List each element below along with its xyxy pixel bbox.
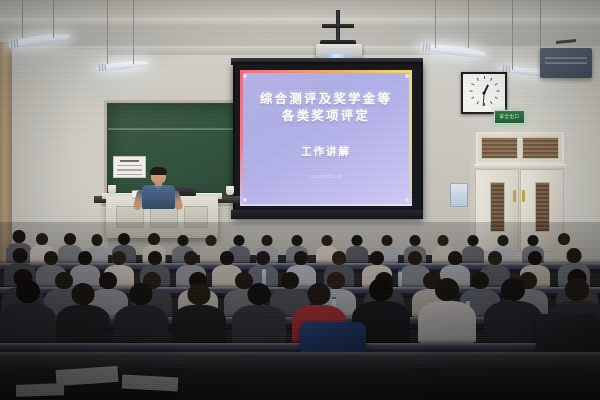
audience-member-head	[184, 251, 198, 265]
presenter-hair	[150, 167, 167, 175]
lamp-end-cap	[9, 39, 19, 49]
audience-member-head	[448, 251, 462, 265]
audience-member-head	[292, 235, 303, 246]
audience-member-head	[248, 283, 271, 305]
door-handle[interactable]	[513, 190, 516, 202]
audience-member-head	[382, 235, 393, 246]
audience-member-head	[567, 248, 582, 263]
slide-border-top	[240, 70, 412, 73]
audience-member-head	[528, 235, 539, 246]
audience-member-torso	[0, 303, 56, 343]
slide-subtitle: 工作讲解	[240, 144, 412, 159]
audience-member-head	[13, 230, 26, 243]
audience-member-head	[148, 233, 160, 245]
audience-member-torso	[56, 305, 110, 343]
lecture-hall-photo: 综合测评及奖学金等 各类奖项评定 工作讲解 2016年9月22日 安全出口	[0, 0, 600, 400]
audience-member-head	[234, 235, 245, 246]
paper-sheet	[16, 383, 64, 397]
audience-member-head	[369, 278, 393, 301]
audience-member-head	[206, 235, 217, 246]
bottle-cap	[262, 267, 266, 269]
audience-member	[418, 278, 476, 343]
audience-seating	[0, 225, 600, 400]
audience-member-head	[64, 233, 76, 245]
slide-corner-dot	[405, 198, 409, 202]
audience-member-head	[501, 278, 525, 301]
audience-member-head	[565, 278, 589, 301]
transom-pane	[522, 137, 559, 159]
audience-member-head	[558, 233, 570, 245]
slide-corner-dot	[243, 198, 247, 202]
audience-member	[484, 278, 542, 343]
paper-sheet	[122, 375, 179, 392]
audience-member-head	[370, 251, 384, 265]
audience-member-torso	[114, 305, 168, 343]
wall-poster	[450, 183, 468, 207]
audience-member	[114, 283, 168, 343]
slide-title: 综合测评及奖学金等 各类奖项评定	[240, 91, 412, 125]
chalkboard-slide-track	[108, 128, 240, 130]
audience-member-head	[188, 283, 211, 305]
audience-member-head	[322, 235, 333, 246]
screen-bottom-rail	[231, 210, 423, 219]
ceiling-slab	[0, 0, 600, 19]
wall-clock	[461, 72, 507, 114]
audience-member	[232, 283, 286, 343]
emergency-exit-sign: 安全出口	[494, 110, 525, 124]
audience-member-head	[44, 251, 58, 265]
door-handle[interactable]	[522, 190, 525, 202]
audience-member-head	[130, 283, 153, 305]
audience-member-head	[220, 251, 234, 265]
lamp-suspension-wire	[107, 0, 108, 64]
clock-face	[463, 74, 505, 112]
slide-border-bottom	[240, 204, 412, 206]
lamp-end-cap	[421, 42, 431, 52]
lamp-end-cap	[97, 64, 107, 72]
audience-member-head	[410, 235, 421, 246]
audience-member	[0, 280, 56, 343]
audience-member-head	[408, 251, 422, 265]
audience-member-head	[332, 251, 346, 265]
cup	[226, 186, 234, 195]
audience-member-torso	[172, 305, 226, 343]
lamp-suspension-wire	[435, 0, 436, 48]
wall-mounted-unit	[540, 48, 592, 78]
audience-member-head	[16, 280, 40, 303]
audience-member-head	[308, 283, 331, 305]
lamp-suspension-wire	[22, 0, 23, 38]
audience-member-head	[148, 251, 162, 265]
audience-member-head	[256, 251, 270, 265]
audience-member-head	[294, 251, 308, 265]
audience-member-head	[528, 251, 542, 265]
lamp-suspension-wire	[468, 0, 469, 48]
audience-member-torso	[418, 301, 476, 343]
audience-member-head	[352, 235, 363, 246]
audience-member-head	[178, 235, 189, 246]
cup	[108, 185, 116, 194]
exit-sign-label: 安全出口	[500, 114, 520, 120]
audience-member-head	[488, 251, 502, 265]
audience-member-head	[36, 233, 48, 245]
lamp-suspension-wire	[133, 0, 134, 64]
lamp-suspension-wire	[53, 0, 54, 38]
lamp-suspension-wire	[512, 0, 513, 70]
audience-member-head	[435, 278, 459, 301]
transom-pane	[481, 137, 518, 159]
clock-center-pin	[483, 92, 486, 95]
audience-member-head	[498, 235, 509, 246]
audience-member-head	[468, 235, 479, 246]
audience-member-head	[118, 233, 130, 245]
slide-corner-dot	[243, 74, 247, 78]
audience-member-head	[92, 234, 103, 246]
audience-member-torso	[484, 301, 542, 343]
projected-slide: 综合测评及奖学金等 各类奖项评定 工作讲解 2016年9月22日	[240, 70, 412, 206]
slide-title-line-1: 综合测评及奖学金等	[240, 91, 412, 108]
audience-member-head	[438, 235, 449, 246]
presenter-speaker	[134, 168, 182, 208]
slide-title-line-2: 各类奖项评定	[240, 108, 412, 125]
audience-member	[56, 283, 110, 343]
door-transom-window	[476, 132, 564, 164]
ceiling-beam	[0, 18, 600, 27]
audience-member-torso	[232, 305, 286, 343]
audience-member-head	[13, 248, 28, 263]
audience-member	[172, 283, 226, 343]
audience-member-head	[78, 251, 92, 265]
slide-corner-dot	[405, 74, 409, 78]
audience-member-head	[112, 251, 126, 265]
projector-mount-crossbar	[322, 24, 354, 28]
audience-member-head	[72, 283, 95, 305]
audience-member-head	[262, 235, 273, 246]
slide-date: 2016年9月22日	[240, 174, 412, 180]
